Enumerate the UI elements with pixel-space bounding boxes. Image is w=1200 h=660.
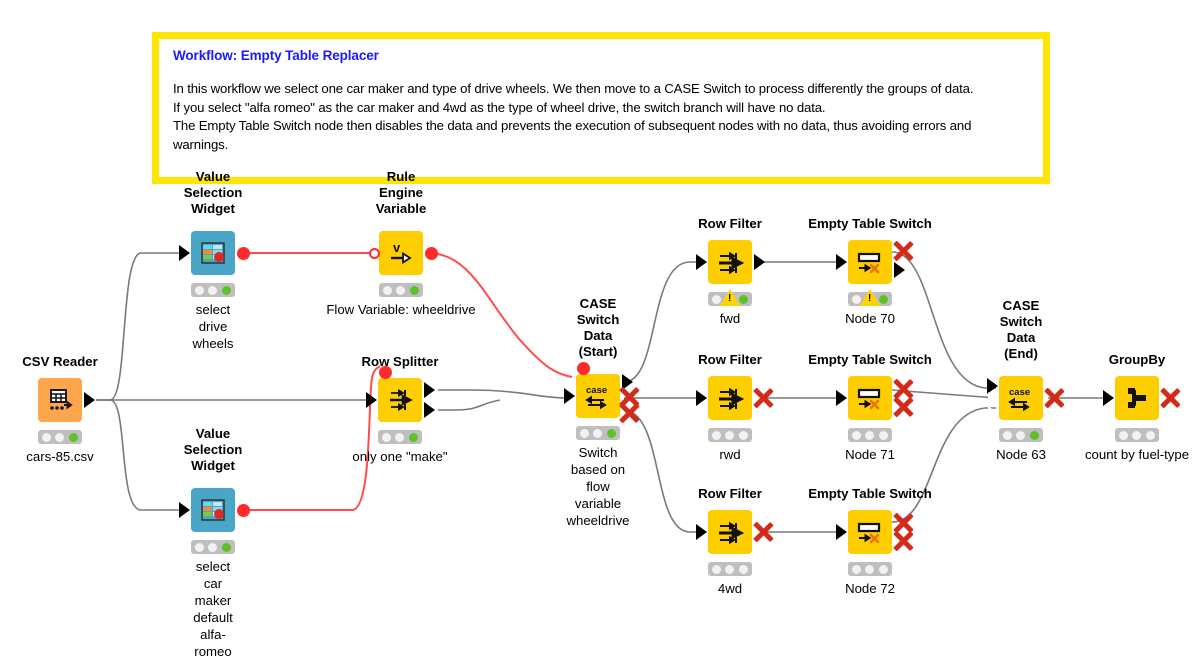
csv-reader-box[interactable] [38, 378, 82, 422]
port-out-data[interactable] [754, 254, 765, 270]
status-dot-idle [852, 431, 861, 440]
status-dot-queued [208, 543, 217, 552]
rule-engine-variable-box[interactable]: v [379, 231, 423, 275]
groupby-icon [1123, 384, 1151, 412]
port-in-data[interactable] [564, 388, 575, 404]
port-in-data[interactable] [696, 524, 707, 540]
port-out-top[interactable] [424, 382, 435, 398]
port-out-0-inactive-x[interactable] [892, 240, 914, 262]
status-dot-executed [1030, 431, 1039, 440]
workflow-annotation: Workflow: Empty Table Replacer In this w… [152, 32, 1050, 184]
node-status [708, 562, 752, 576]
variable-arrow-icon: v [386, 238, 416, 268]
node-subtitle: count by fuel-type [1085, 446, 1189, 463]
status-dot-idle [580, 429, 589, 438]
status-dot-queued [395, 433, 404, 442]
row-filter-icon [716, 384, 744, 412]
node-subtitle: only one "make" [352, 448, 447, 465]
node-title: Row Splitter [362, 354, 439, 370]
empty-table-switch-icon [855, 248, 885, 276]
status-dot-queued [1016, 431, 1025, 440]
node-status [38, 430, 82, 444]
node-title: Row Filter [698, 216, 762, 232]
wire-case-to-rf-4wd [624, 410, 706, 532]
status-dot-executed [409, 433, 418, 442]
wire-rowsplitter-to-case-start [438, 390, 572, 398]
port-in-data[interactable] [696, 254, 707, 270]
row-filter-icon [716, 518, 744, 546]
node-status [999, 428, 1043, 442]
status-dot-executed [879, 295, 888, 304]
row-splitter-icon [386, 386, 414, 414]
port-in-data[interactable] [366, 392, 377, 408]
empty-table-switch-box[interactable] [848, 376, 892, 420]
status-dot-executed [222, 286, 231, 295]
svg-text:v: v [393, 240, 401, 255]
empty-table-switch-box[interactable] [848, 240, 892, 284]
node-subtitle: Node 72 [845, 580, 895, 597]
row-splitter-box[interactable] [378, 378, 422, 422]
annotation-line-3: The Empty Table Switch node then disable… [173, 117, 1029, 154]
wire-rowsplitter-lower [438, 400, 500, 410]
status-dot-executed [1146, 431, 1155, 440]
port-out-flow-variable[interactable] [237, 247, 250, 260]
value-selection-box[interactable] [191, 231, 235, 275]
port-in-data[interactable] [1103, 390, 1114, 406]
node-subtitle: cars-85.csv [26, 448, 93, 465]
port-out-inactive-x[interactable] [752, 387, 774, 409]
node-subtitle: select car maker default alfa-romeo [193, 558, 233, 660]
port-in-flow-variable[interactable] [577, 362, 590, 375]
status-dot-executed [222, 543, 231, 552]
empty-table-switch-icon [855, 384, 885, 412]
node-title: Value Selection Widget [184, 169, 243, 217]
port-out-inactive-x[interactable] [1159, 387, 1181, 409]
node-subtitle: Node 63 [996, 446, 1046, 463]
node-subtitle: fwd [720, 310, 741, 327]
node-title: Empty Table Switch [808, 486, 932, 502]
port-out-1-active[interactable] [894, 262, 905, 278]
status-dot-idle [712, 431, 721, 440]
node-subtitle: 4wd [718, 580, 742, 597]
annotation-body: In this workflow we select one car maker… [173, 80, 1029, 154]
node-status [708, 428, 752, 442]
status-dot-idle [712, 565, 721, 574]
row-filter-icon [716, 248, 744, 276]
node-subtitle: Node 70 [845, 310, 895, 327]
node-title: CSV Reader [22, 354, 98, 370]
wire-csv-to-valsel-bot [96, 400, 186, 510]
port-in-data[interactable] [179, 502, 190, 518]
node-status [848, 562, 892, 576]
status-dot-executed [69, 433, 78, 442]
wire-ets72-to-caseend [892, 408, 996, 522]
port-in-data[interactable] [179, 245, 190, 261]
annotation-line-2: If you select "alfa romeo" as the car ma… [173, 99, 1029, 118]
value-selection-box[interactable] [191, 488, 235, 532]
node-status [576, 426, 620, 440]
node-subtitle: select drive wheels [192, 301, 233, 352]
empty-table-switch-box[interactable] [848, 510, 892, 554]
groupby-box[interactable] [1115, 376, 1159, 420]
port-in-flow-variable[interactable] [379, 366, 392, 379]
empty-table-switch-icon [855, 518, 885, 546]
workflow-canvas: Workflow: Empty Table Replacer In this w… [0, 0, 1200, 630]
status-dot-queued [55, 433, 64, 442]
node-status [848, 428, 892, 442]
status-dot-idle [383, 286, 392, 295]
port-in-data[interactable] [836, 524, 847, 540]
status-dot-idle [382, 433, 391, 442]
node-title: Row Filter [698, 352, 762, 368]
status-dot-queued [396, 286, 405, 295]
port-out-data[interactable] [84, 392, 95, 408]
status-dot-idle [852, 565, 861, 574]
wire-csv-to-valsel-top [96, 253, 186, 400]
status-dot-executed [879, 431, 888, 440]
port-out-inactive-x[interactable] [752, 521, 774, 543]
case-badge-text: case [586, 385, 607, 396]
port-in-2-inactive[interactable] [988, 406, 999, 422]
port-in-data[interactable] [696, 390, 707, 406]
node-status [1115, 428, 1159, 442]
status-dot-executed [607, 429, 616, 438]
node-title: Empty Table Switch [808, 216, 932, 232]
case-switch-icon: case [1005, 383, 1037, 413]
status-dot-idle [1119, 431, 1128, 440]
status-dot-queued [865, 565, 874, 574]
port-in-flow-variable[interactable] [369, 248, 380, 259]
port-in-data[interactable] [836, 254, 847, 270]
status-dot-executed [739, 295, 748, 304]
wire-case-to-rf-fwd [624, 262, 706, 382]
case-switch-box[interactable]: case [576, 374, 620, 418]
case-badge-text: case [1009, 387, 1030, 398]
annotation-line-1: In this workflow we select one car maker… [173, 80, 1029, 99]
port-out-bottom[interactable] [424, 402, 435, 418]
value-selection-icon [199, 239, 227, 267]
row-filter-box[interactable] [708, 240, 752, 284]
status-dot-idle [195, 286, 204, 295]
status-dot-queued [865, 431, 874, 440]
node-status [191, 283, 235, 297]
wire-flowvar-valselbot-to-rowsplitter [240, 366, 380, 510]
status-dot-queued [593, 429, 602, 438]
node-title: GroupBy [1109, 352, 1165, 368]
node-title: Value Selection Widget [184, 426, 243, 474]
status-dot-idle [42, 433, 51, 442]
node-title: CASE Switch Data (End) [1000, 298, 1043, 362]
node-subtitle: Flow Variable: wheeldrive [326, 301, 475, 318]
node-title: Row Filter [698, 486, 762, 502]
case-switch-icon: case [582, 381, 614, 411]
warning-icon [720, 289, 740, 306]
node-title: Empty Table Switch [808, 352, 932, 368]
status-dot-idle [195, 543, 204, 552]
node-title: Rule Engine Variable [376, 169, 427, 217]
port-out-1-inactive-x[interactable] [892, 530, 914, 552]
port-out-flow-variable[interactable] [237, 504, 250, 517]
node-status [191, 540, 235, 554]
status-dot-executed [739, 431, 748, 440]
annotation-title: Workflow: Empty Table Replacer [173, 48, 1029, 64]
status-dot-queued [725, 565, 734, 574]
port-out-1-inactive-x[interactable] [892, 396, 914, 418]
warning-icon [860, 289, 880, 306]
status-dot-queued [725, 431, 734, 440]
status-dot-idle [1003, 431, 1012, 440]
port-in-data[interactable] [836, 390, 847, 406]
value-selection-icon [199, 496, 227, 524]
case-switch-box[interactable]: case [999, 376, 1043, 420]
status-dot-queued [1132, 431, 1141, 440]
node-subtitle: Node 71 [845, 446, 895, 463]
row-filter-box[interactable] [708, 510, 752, 554]
port-out-inactive-x[interactable] [1043, 387, 1065, 409]
node-status [379, 283, 423, 297]
row-filter-box[interactable] [708, 376, 752, 420]
node-status [378, 430, 422, 444]
port-out-flow-variable[interactable] [425, 247, 438, 260]
status-dot-executed [739, 565, 748, 574]
status-dot-queued [208, 286, 217, 295]
node-subtitle: rwd [719, 446, 740, 463]
node-title: CASE Switch Data (Start) [577, 296, 620, 360]
status-dot-executed [879, 565, 888, 574]
table-arrow-icon [46, 386, 74, 414]
port-out-2-inactive-x[interactable] [618, 402, 640, 424]
status-dot-executed [410, 286, 419, 295]
node-subtitle: Switch based on flow variable wheeldrive [566, 444, 629, 529]
